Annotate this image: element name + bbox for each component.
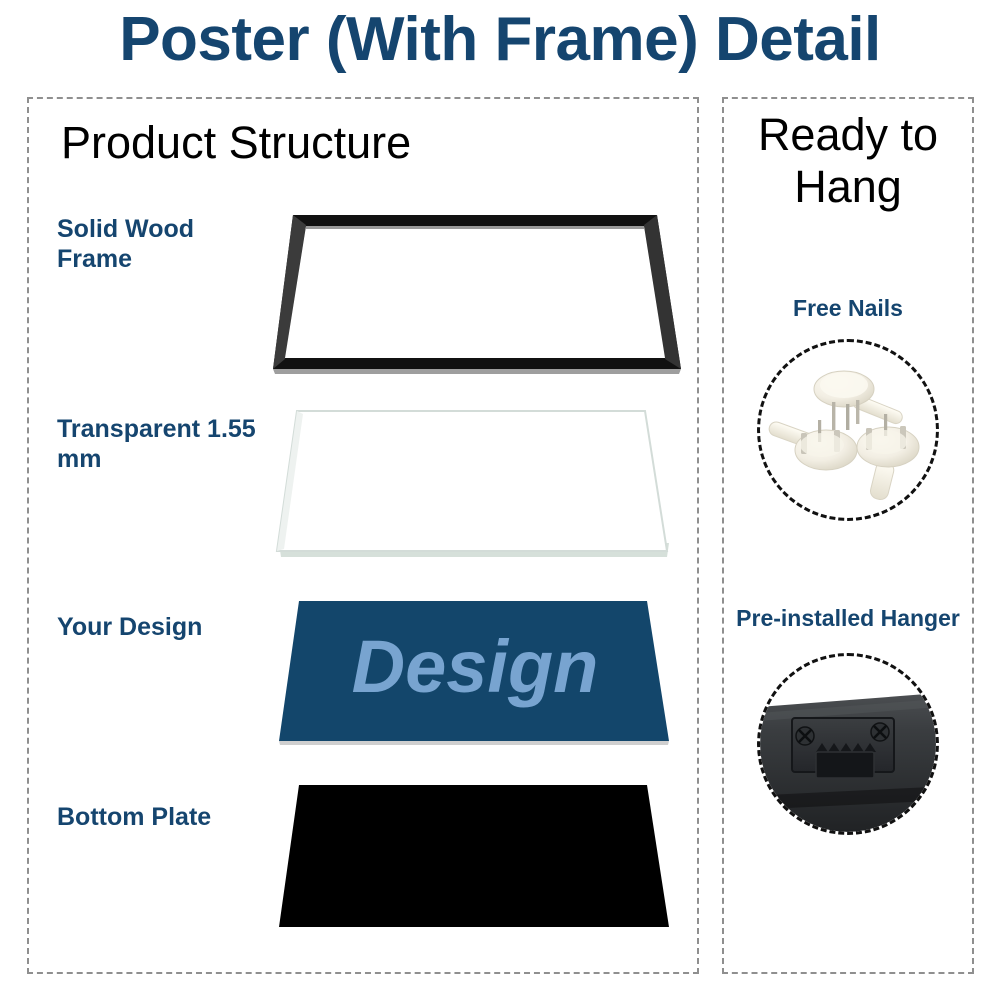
free-nails-caption: Free Nails <box>724 295 972 323</box>
design-panel-shadow <box>279 741 669 745</box>
layer-row-bottom-plate: Bottom Plate <box>29 771 697 961</box>
layer-row-your-design: Your Design Design <box>29 589 697 779</box>
layer-label-your-design: Your Design <box>57 613 275 643</box>
layer-row-solid-wood-frame: Solid Wood Frame <box>29 197 697 387</box>
feature-free-nails: Free Nails <box>724 295 972 521</box>
nail-hook-right <box>857 414 919 501</box>
bottom-plate-illustration <box>265 771 685 961</box>
nail-hook-top-pin-2 <box>846 404 849 430</box>
ready-to-hang-panel: Ready to Hang Free Nails <box>722 97 974 974</box>
layer-row-transparent-sheet: Transparent 1.55 mm <box>29 393 697 583</box>
sheet-face <box>277 411 667 551</box>
pre-installed-hanger-caption: Pre-installed Hanger <box>724 605 972 633</box>
hanger-opening <box>816 752 874 778</box>
frame-top-lip <box>306 226 644 229</box>
nail-hook-top-cap-top <box>820 372 868 398</box>
nail-hook-top <box>814 371 904 430</box>
frame-bottom-shadow <box>273 369 681 374</box>
black-plate-svg <box>265 771 685 961</box>
clear-sheet-svg <box>265 393 685 583</box>
layer-label-solid-wood-frame: Solid Wood Frame <box>57 215 275 274</box>
nail-hook-top-pin-3 <box>856 400 859 424</box>
nail-hook-left <box>767 420 857 470</box>
design-panel-svg: Design <box>265 589 685 779</box>
your-design-illustration: Design <box>265 589 685 779</box>
picture-hook-nails-svg <box>760 342 936 518</box>
feature-pre-installed-hanger: Pre-installed Hanger <box>724 605 972 835</box>
frame-trapezoid-svg <box>265 197 685 387</box>
free-nails-photo <box>757 339 939 521</box>
nail-hook-right-cap-sheen <box>863 430 907 454</box>
hanger-screw-right <box>871 723 889 741</box>
design-panel-text: Design <box>352 625 599 708</box>
hanger-screw-left <box>796 727 814 745</box>
ready-to-hang-heading: Ready to Hang <box>724 109 972 213</box>
transparent-sheet-illustration <box>265 393 685 583</box>
layer-label-bottom-plate: Bottom Plate <box>57 803 275 833</box>
nail-hook-top-pin-1 <box>832 402 835 430</box>
bottom-plate-face <box>279 785 669 927</box>
page-title: Poster (With Frame) Detail <box>0 6 1000 74</box>
nail-hook-left-cap-sheen <box>800 433 844 457</box>
layer-label-transparent-sheet: Transparent 1.55 mm <box>57 415 275 474</box>
pre-installed-hanger-photo <box>757 653 939 835</box>
solid-wood-frame-illustration <box>265 197 685 387</box>
product-structure-heading: Product Structure <box>61 117 411 169</box>
sawtooth-hanger-svg <box>760 656 936 832</box>
frame-inner-opening <box>285 226 665 358</box>
product-structure-panel: Product Structure Solid Wood Frame Trans… <box>27 97 699 974</box>
